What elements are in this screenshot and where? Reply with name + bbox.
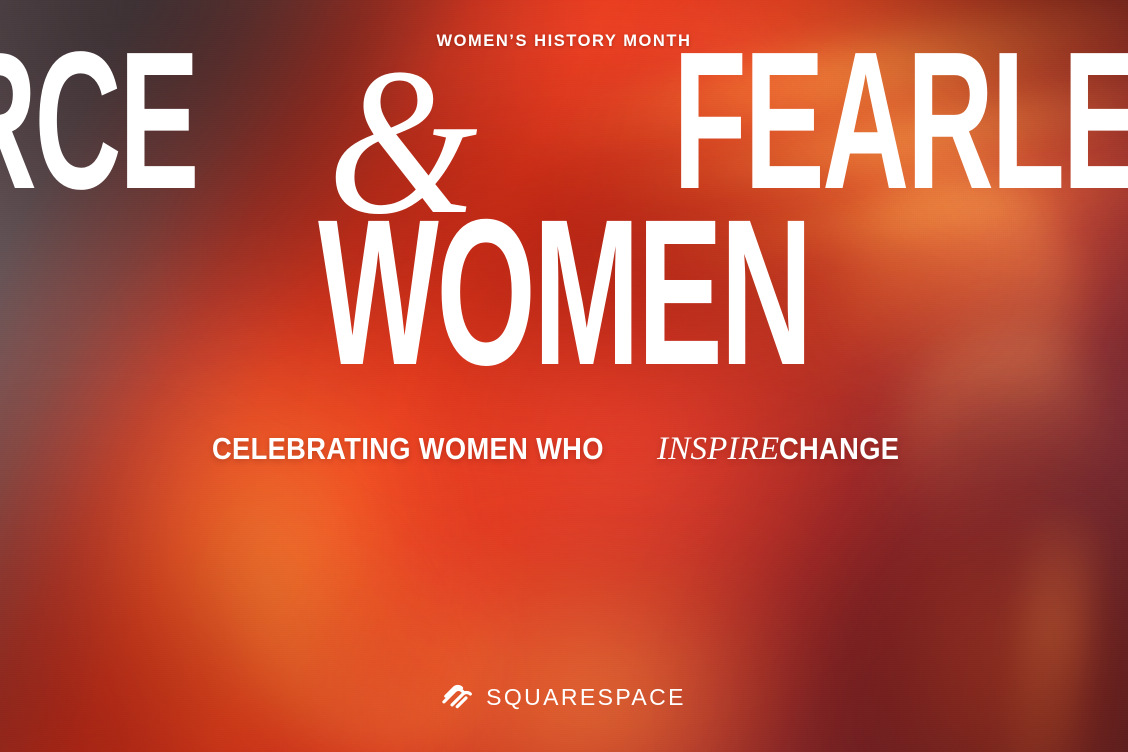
- tagline-pre-text: CELEBRATING WOMEN WHO: [212, 431, 604, 467]
- womens-history-month-poster: WOMEN’S HISTORY MONTH FIERCE & FEARLESS …: [0, 0, 1128, 752]
- headline-word-fierce: FIERCE: [0, 23, 197, 219]
- headline-word-women: WOMEN: [318, 189, 810, 397]
- tagline: CELEBRATING WOMEN WHO INSPIRE CHANGE: [212, 431, 916, 468]
- squarespace-logo-icon: [442, 682, 474, 711]
- squarespace-logo-lockup: SQUARESPACE: [0, 682, 1128, 711]
- squarespace-wordmark: SQUARESPACE: [486, 685, 686, 709]
- headline-line-2: WOMEN: [0, 229, 1128, 397]
- poster-content: WOMEN’S HISTORY MONTH FIERCE & FEARLESS …: [0, 0, 1128, 752]
- poster-headline: FIERCE & FEARLESS WOMEN: [0, 59, 1128, 397]
- tagline-post-text: CHANGE: [779, 431, 899, 467]
- tagline-emphasis-inspire: INSPIRE: [657, 431, 779, 467]
